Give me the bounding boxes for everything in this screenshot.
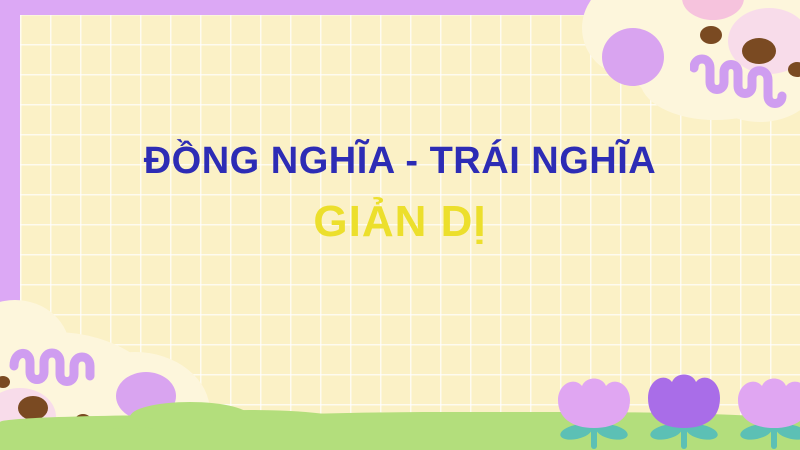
purple-ear-blob-icon [602, 28, 664, 86]
purple-squiggle-icon [690, 52, 800, 108]
brown-eye-spot-icon [700, 26, 722, 44]
title-block: ĐỒNG NGHĨA - TRÁI NGHĨA GIẢN DỊ [20, 140, 780, 247]
tulip-right [732, 378, 800, 450]
tulip-left [552, 378, 636, 450]
tulip-center [642, 374, 726, 450]
top-border-strip [0, 0, 632, 15]
lesson-title: ĐỒNG NGHĨA - TRÁI NGHĨA [20, 140, 780, 183]
brown-eye-spot-icon-bl [18, 396, 48, 420]
slide-canvas: ĐỒNG NGHĨA - TRÁI NGHĨA GIẢN DỊ [0, 0, 800, 450]
lesson-keyword: GIẢN DỊ [20, 197, 780, 248]
left-border-strip [0, 0, 20, 318]
purple-squiggle-icon-bl [8, 336, 118, 388]
